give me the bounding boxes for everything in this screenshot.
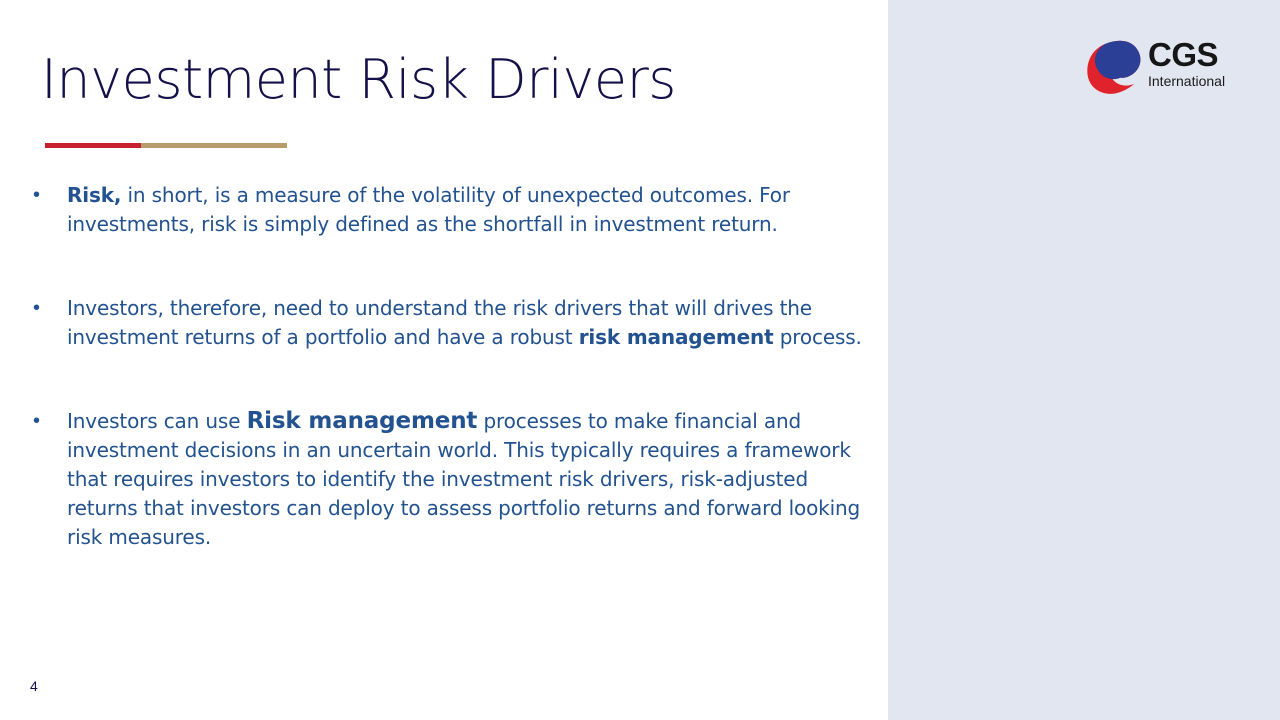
cgs-swirl-icon [1084, 40, 1146, 96]
bullet-text-1: Risk, in short, is a measure of the vola… [67, 181, 873, 239]
bullet-text-2: Investors, therefore, need to understand… [67, 294, 873, 352]
logo-name: CGS [1148, 38, 1240, 72]
page-title: Investment Risk Drivers [41, 47, 676, 113]
right-decorative-panel [888, 0, 1280, 720]
bullet-3-body-a: Investors can use [67, 409, 247, 433]
logo-wordmark: CGS International [1148, 38, 1240, 90]
page-number: 4 [30, 678, 38, 694]
bullet-1-emphasis: Risk, [67, 183, 121, 207]
slide-canvas: CGS International Investment Risk Driver… [0, 0, 1280, 720]
bullet-marker-icon: • [28, 181, 67, 210]
bullet-text-3: Investors can use Risk management proces… [67, 407, 873, 552]
cgs-international-logo: CGS International [1084, 38, 1236, 100]
list-item: • Risk, in short, is a measure of the vo… [28, 181, 873, 239]
bullet-2-body-b: process. [774, 325, 862, 349]
bullet-3-emphasis: Risk management [247, 408, 478, 434]
bullet-list: • Risk, in short, is a measure of the vo… [28, 181, 873, 552]
logo-subtitle: International [1148, 73, 1240, 90]
list-item: • Investors can use Risk management proc… [28, 407, 873, 552]
title-accent-rule [45, 143, 287, 148]
accent-rule-red-segment [45, 143, 141, 148]
bullet-2-emphasis: risk management [579, 325, 774, 349]
accent-rule-tan-segment [141, 143, 287, 148]
bullet-marker-icon: • [28, 407, 67, 436]
bullet-marker-icon: • [28, 294, 67, 323]
list-item: • Investors, therefore, need to understa… [28, 294, 873, 352]
bullet-1-body: in short, is a measure of the volatility… [67, 183, 790, 236]
